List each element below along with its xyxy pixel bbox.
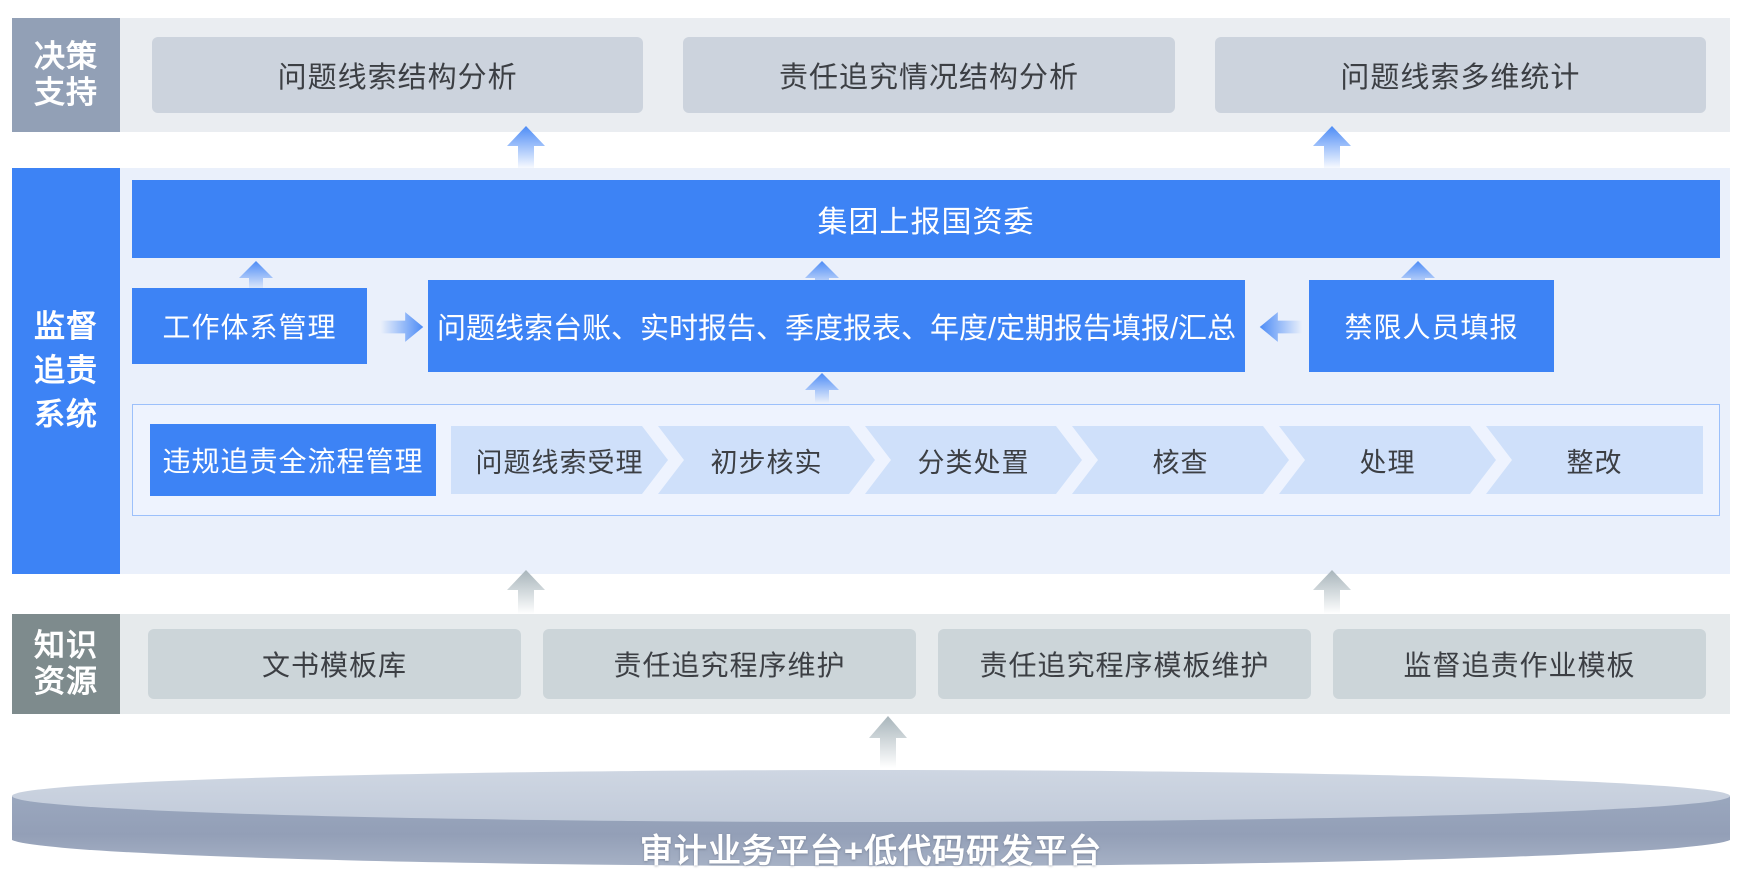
process-step-preliminary-verification[interactable]: 初步核实 bbox=[658, 426, 875, 494]
knowledge-resources-sidebar-label: 知识 资源 bbox=[12, 614, 120, 714]
supervision-system-sidebar-label: 监督 追责 系统 bbox=[12, 168, 120, 574]
accountability-process-panel: 违规追责全流程管理 问题线索受理 初步核实 分类处置 核查 处理 bbox=[132, 404, 1720, 516]
decision-support-sidebar-label: 决策 支持 bbox=[12, 18, 120, 132]
arrow-up-icon-platform-to-knowledge bbox=[866, 714, 910, 770]
knowledge-card-label: 文书模板库 bbox=[262, 644, 407, 684]
process-step-label: 整改 bbox=[1567, 441, 1623, 480]
process-step-label: 初步核实 bbox=[711, 441, 823, 480]
decision-card-label: 问题线索结构分析 bbox=[278, 54, 518, 96]
decision-card-multidim-statistics[interactable]: 问题线索多维统计 bbox=[1215, 37, 1706, 113]
group-report-to-sasac-bar[interactable]: 集团上报国资委 bbox=[132, 180, 1720, 258]
supervision-sidebar-line1: 监督 bbox=[34, 305, 98, 349]
knowledge-card-label: 责任追究程序模板维护 bbox=[979, 644, 1269, 684]
work-system-label: 工作体系管理 bbox=[162, 306, 336, 346]
restricted-personnel-box[interactable]: 禁限人员填报 bbox=[1309, 280, 1554, 372]
knowledge-card-accountability-procedure-maintenance[interactable]: 责任追究程序维护 bbox=[543, 629, 916, 699]
knowledge-sidebar-line1: 知识 bbox=[34, 628, 98, 664]
decision-card-problem-clue-structure[interactable]: 问题线索结构分析 bbox=[152, 37, 643, 113]
ledger-report-box[interactable]: 问题线索台账、实时报告、季度报表、年度/定期报告填报/汇总 bbox=[428, 280, 1245, 372]
platform-label: 审计业务平台+低代码研发平台 bbox=[10, 824, 1732, 872]
process-step-clue-acceptance[interactable]: 问题线索受理 bbox=[451, 426, 668, 494]
decision-support-sidebar-line1: 决策 bbox=[34, 39, 98, 75]
process-step-label: 分类处置 bbox=[918, 441, 1030, 480]
arrow-up-icon-to-decision-card-3 bbox=[1310, 124, 1354, 172]
supervision-sidebar-line3: 系统 bbox=[34, 393, 98, 437]
ledger-label: 问题线索台账、实时报告、季度报表、年度/定期报告填报/汇总 bbox=[437, 305, 1236, 347]
arrow-up-icon-process-to-ledger bbox=[802, 372, 842, 404]
process-step-label: 核查 bbox=[1153, 441, 1209, 480]
process-step-rectification[interactable]: 整改 bbox=[1486, 426, 1703, 494]
process-step-label: 处理 bbox=[1360, 441, 1416, 480]
decision-card-label: 责任追究情况结构分析 bbox=[779, 54, 1079, 96]
arrow-up-icon-knowledge-to-process-left bbox=[504, 568, 548, 616]
process-step-label: 问题线索受理 bbox=[476, 441, 644, 480]
violation-accountability-full-process-box[interactable]: 违规追责全流程管理 bbox=[150, 424, 436, 496]
process-step-classified-handling[interactable]: 分类处置 bbox=[865, 426, 1082, 494]
knowledge-sidebar-line2: 资源 bbox=[34, 664, 98, 700]
knowledge-card-accountability-procedure-template-maintenance[interactable]: 责任追究程序模板维护 bbox=[938, 629, 1311, 699]
knowledge-resources-row: 知识 资源 文书模板库 责任追究程序维护 责任追究程序模板维护 监督追责作业模板 bbox=[12, 614, 1730, 714]
decision-card-label: 问题线索多维统计 bbox=[1340, 54, 1580, 96]
supervision-system-body: 集团上报国资委 工作体系管理 bbox=[120, 168, 1730, 574]
arrow-up-icon-to-decision-card-1 bbox=[504, 124, 548, 172]
process-step-list: 问题线索受理 初步核实 分类处置 核查 处理 整改 bbox=[451, 426, 1703, 494]
knowledge-card-document-template-library[interactable]: 文书模板库 bbox=[148, 629, 521, 699]
knowledge-card-label: 责任追究程序维护 bbox=[613, 644, 845, 684]
supervision-system-row: 监督 追责 系统 集团上报国资委 工作体系管理 bbox=[12, 168, 1730, 574]
decision-card-accountability-structure[interactable]: 责任追究情况结构分析 bbox=[683, 37, 1174, 113]
knowledge-card-label: 监督追责作业模板 bbox=[1403, 644, 1635, 684]
process-step-investigation[interactable]: 核查 bbox=[1072, 426, 1289, 494]
restricted-label: 禁限人员填报 bbox=[1344, 306, 1518, 346]
process-main-label: 违规追责全流程管理 bbox=[162, 440, 423, 480]
supervision-sidebar-line2: 追责 bbox=[34, 349, 98, 393]
decision-support-sidebar-line2: 支持 bbox=[34, 75, 98, 111]
work-system-management-box[interactable]: 工作体系管理 bbox=[132, 288, 367, 364]
process-step-handling[interactable]: 处理 bbox=[1279, 426, 1496, 494]
decision-support-card-list: 问题线索结构分析 责任追究情况结构分析 问题线索多维统计 bbox=[120, 18, 1730, 132]
knowledge-resources-card-list: 文书模板库 责任追究程序维护 责任追究程序模板维护 监督追责作业模板 bbox=[120, 614, 1730, 714]
platform-cylinder: 审计业务平台+低代码研发平台 bbox=[10, 768, 1732, 884]
arrow-left-icon-restricted-to-ledger bbox=[1258, 310, 1304, 344]
supervision-middle-band: 工作体系管理 问题线索台账、实时报告、季度报表、年度/定期报告填报/汇总 bbox=[132, 288, 1720, 366]
arrow-right-icon-work-system-to-ledger bbox=[379, 310, 425, 344]
group-report-label: 集团上报国资委 bbox=[818, 197, 1035, 241]
arrow-up-icon-knowledge-to-process-right bbox=[1310, 568, 1354, 616]
decision-support-row: 决策 支持 问题线索结构分析 责任追究情况结构分析 问题线索多维统计 bbox=[12, 18, 1730, 132]
knowledge-card-supervision-work-template[interactable]: 监督追责作业模板 bbox=[1333, 629, 1706, 699]
